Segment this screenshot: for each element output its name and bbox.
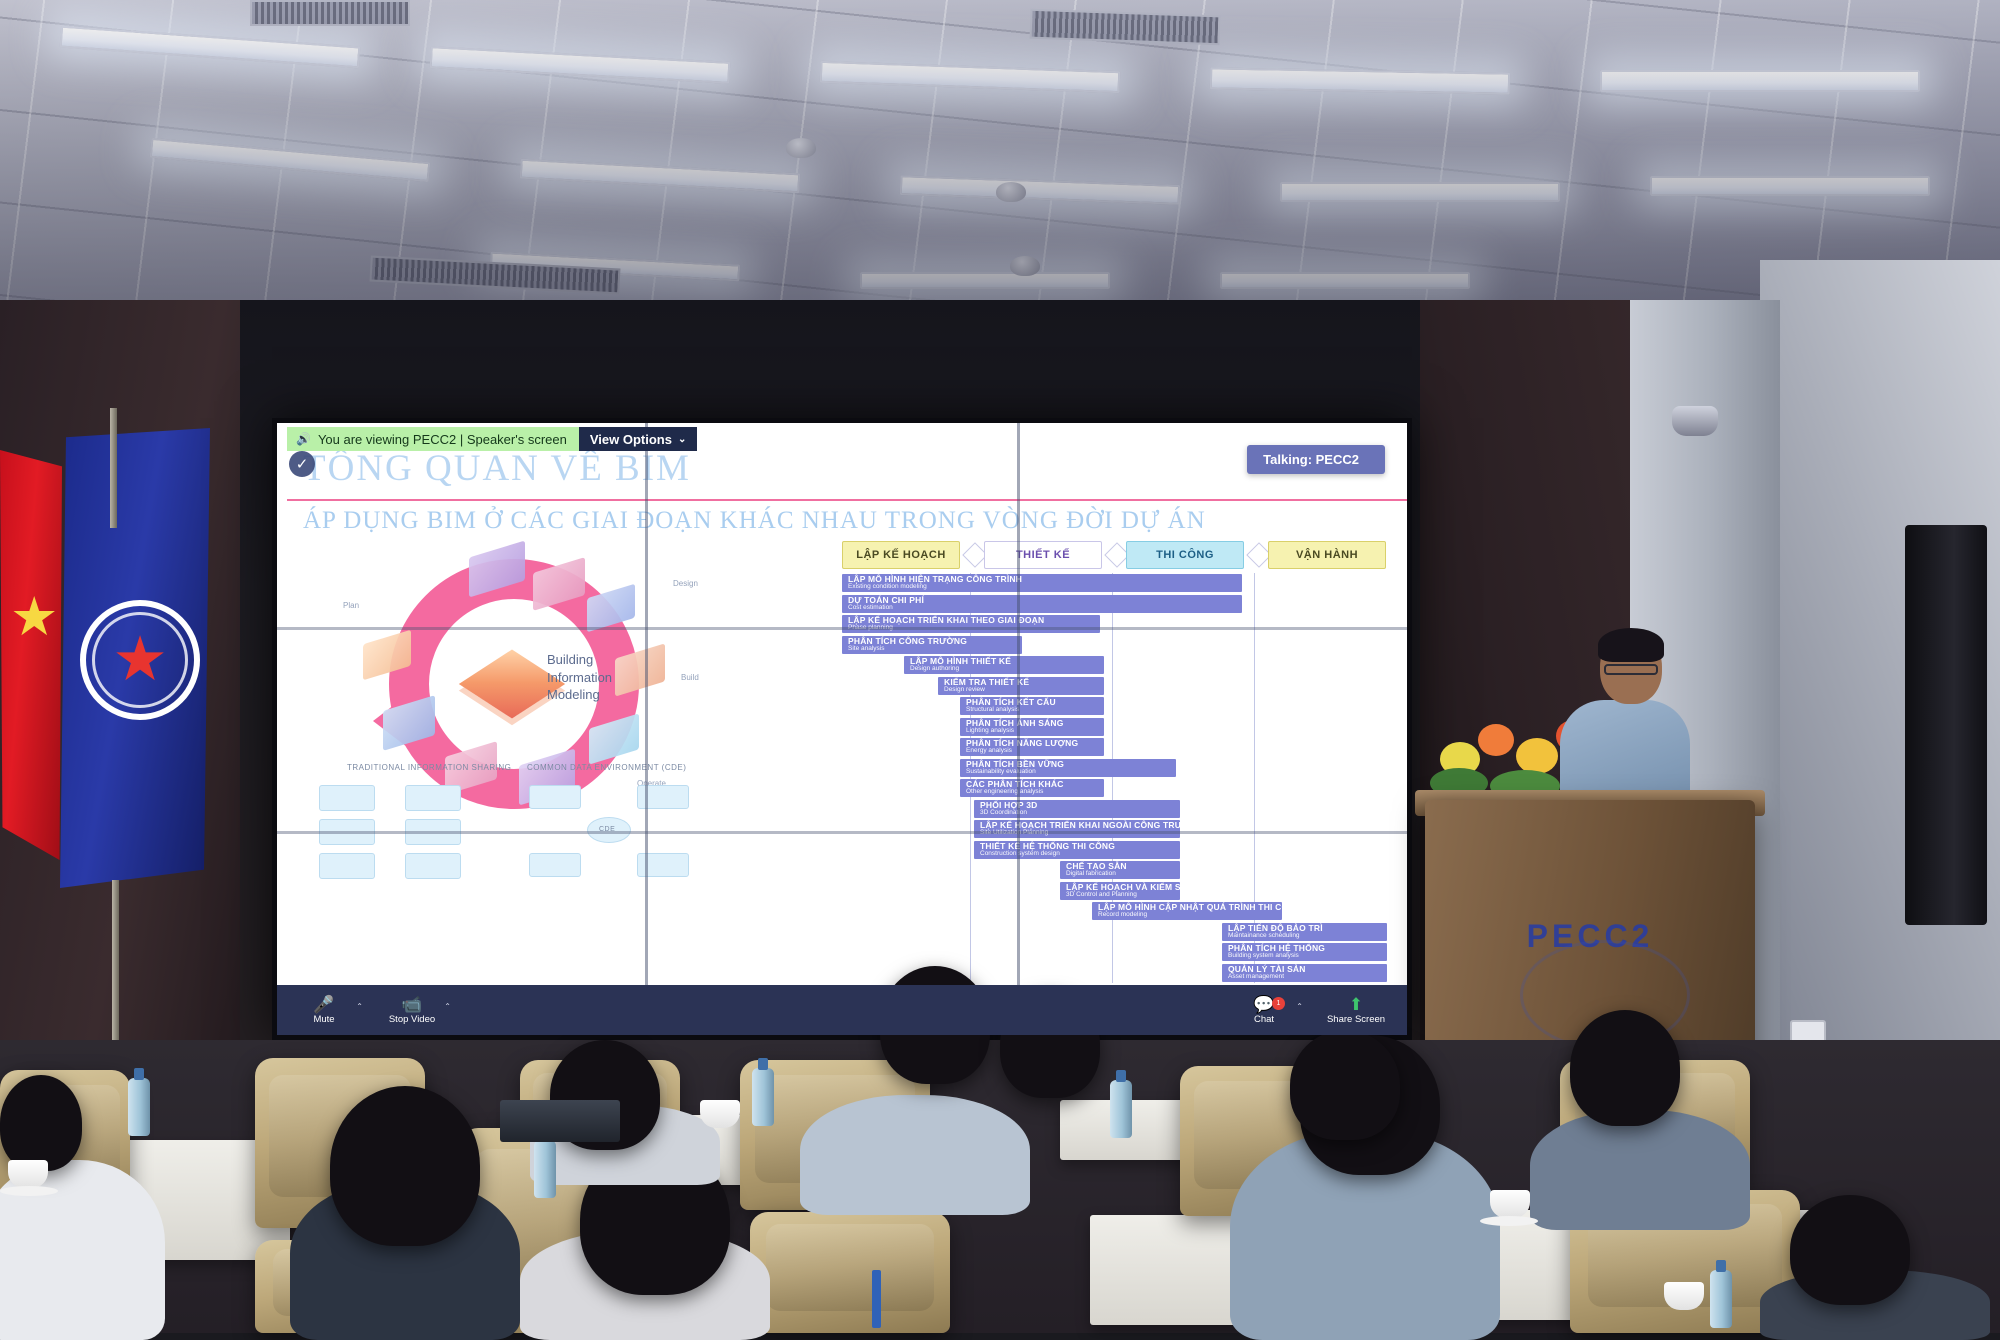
task-label-en: Energy analysis bbox=[966, 748, 1104, 755]
view-options-button[interactable]: View Options ⌄ bbox=[579, 427, 698, 451]
chat-unread-badge: 1 bbox=[1272, 997, 1285, 1010]
gantt-bar[interactable]: PHỐI HỢP 3D3D Coordination bbox=[974, 800, 1180, 818]
flag-pole bbox=[110, 408, 117, 528]
flow-node bbox=[405, 785, 461, 811]
toolbar-left-group: 🎤 Mute ⌃ 📹 Stop Video ⌃ bbox=[277, 996, 445, 1025]
attendee-shoulders bbox=[800, 1095, 1030, 1215]
task-label-en: Construction system design bbox=[980, 851, 1180, 858]
task-label-en: Existing condition modeling bbox=[848, 584, 1242, 591]
phase-label: THIẾT KẾ bbox=[1016, 549, 1070, 561]
gantt-row: THIẾT KẾ HỆ THỐNG THI CÔNGConstruction s… bbox=[842, 840, 1387, 861]
ring-label: Plan bbox=[343, 601, 359, 610]
viewing-status: 🔊 You are viewing PECC2 | Speaker's scre… bbox=[287, 427, 579, 451]
microphone-icon: 🎤 bbox=[313, 996, 334, 1013]
task-label-en: Maintainance scheduling bbox=[1228, 933, 1387, 940]
gantt-row: PHÂN TÍCH BỀN VỮNGSustainability evaluat… bbox=[842, 758, 1387, 779]
task-label-en: Site analysis bbox=[848, 646, 1022, 653]
toolbar-right-group: 💬 1 Chat ⌃ ⬆ Share Screen bbox=[1231, 996, 1407, 1025]
attendee-head bbox=[1290, 1030, 1400, 1140]
bim-logo-line-3: Modeling bbox=[547, 686, 612, 704]
task-label-en: Building system analysis bbox=[1228, 953, 1387, 960]
bim-logo-line-2: Information bbox=[547, 669, 612, 687]
phase-label: VẬN HÀNH bbox=[1296, 549, 1358, 561]
camera-icon: 📹 bbox=[401, 996, 422, 1013]
task-label-en: Asset management bbox=[1228, 974, 1387, 981]
title-divider bbox=[287, 499, 1407, 501]
task-label-en: Design review bbox=[944, 687, 1104, 694]
phase-label: THI CÔNG bbox=[1156, 549, 1214, 561]
gantt-bar[interactable]: LẬP MÔ HÌNH HIỆN TRẠNG CÔNG TRÌNHExistin… bbox=[842, 574, 1242, 592]
ceiling bbox=[0, 0, 2000, 340]
gantt-bar[interactable]: CÁC PHÂN TÍCH KHÁCOther engineering anal… bbox=[960, 779, 1104, 797]
zoom-avatar-icon[interactable]: ✓ bbox=[289, 451, 315, 477]
evn-emblem-ring bbox=[92, 612, 188, 708]
presenter-hair bbox=[1598, 628, 1664, 662]
gantt-bar[interactable]: LẬP KẾ HOẠCH TRIỂN KHAI NGOÀI CÔNG TRƯỜN… bbox=[974, 820, 1180, 838]
flower bbox=[1516, 738, 1558, 774]
flow-node bbox=[319, 853, 375, 879]
mute-label: Mute bbox=[313, 1014, 334, 1025]
zoom-viewing-banner: 🔊 You are viewing PECC2 | Speaker's scre… bbox=[287, 427, 697, 451]
gantt-bar[interactable]: PHÂN TÍCH ÁNH SÁNGLighting analysis bbox=[960, 718, 1104, 736]
gantt-row: DỰ TOÁN CHI PHÍCost estimation bbox=[842, 594, 1387, 615]
phase-button-design[interactable]: THIẾT KẾ bbox=[984, 541, 1102, 569]
laptop[interactable] bbox=[500, 1100, 620, 1142]
gantt-row: LẬP KẾ HOẠCH TRIỂN KHAI NGOÀI CÔNG TRƯỜN… bbox=[842, 819, 1387, 840]
video-wall-frame: TỔNG QUAN VỀ BIM ÁP DỤNG BIM Ở CÁC GIAI … bbox=[272, 418, 1412, 1040]
gantt-row: PHÂN TÍCH ÁNH SÁNGLighting analysis bbox=[842, 717, 1387, 738]
talking-indicator: Talking: PECC2 bbox=[1247, 445, 1385, 474]
gantt-bar[interactable]: LẬP KẾ HOẠCH TRIỂN KHAI THEO GIAI ĐOẠNPh… bbox=[842, 615, 1100, 633]
video-wall-seam bbox=[1017, 423, 1020, 1035]
gantt-bar[interactable]: LẬP MÔ HÌNH THIẾT KẾDesign authoring bbox=[904, 656, 1104, 674]
ceiling-shading bbox=[0, 0, 2000, 340]
phase-button-construct[interactable]: THI CÔNG bbox=[1126, 541, 1244, 569]
gantt-bar[interactable]: PHÂN TÍCH KẾT CẤUStructural analysis bbox=[960, 697, 1104, 715]
chat-label: Chat bbox=[1254, 1014, 1274, 1025]
water-bottle bbox=[128, 1078, 150, 1136]
phase-header-row: LẬP KẾ HOẠCH THIẾT KẾ THI CÔNG VẬN HÀNH bbox=[842, 541, 1382, 571]
gantt-row: PHỐI HỢP 3D3D Coordination bbox=[842, 799, 1387, 820]
bim-logo-text: Building Information Modeling bbox=[547, 651, 612, 704]
chat-button[interactable]: 💬 1 Chat ⌃ bbox=[1231, 996, 1297, 1025]
slide-subtitle: ÁP DỤNG BIM Ở CÁC GIAI ĐOẠN KHÁC NHAU TR… bbox=[303, 507, 1206, 535]
gantt-row: PHÂN TÍCH KẾT CẤUStructural analysis bbox=[842, 696, 1387, 717]
video-wall-seam bbox=[277, 831, 1407, 834]
gantt-bar[interactable]: LẬP MÔ HÌNH CẬP NHẬT QUÁ TRÌNH THI CÔNGR… bbox=[1092, 902, 1282, 920]
task-label-en: Lighting analysis bbox=[966, 728, 1104, 735]
water-bottle bbox=[1710, 1270, 1732, 1328]
gantt-row: PHÂN TÍCH NĂNG LƯỢNGEnergy analysis bbox=[842, 737, 1387, 758]
task-label-en: 3D Coordination bbox=[980, 810, 1180, 817]
phase-button-plan[interactable]: LẬP KẾ HOẠCH bbox=[842, 541, 960, 569]
water-bottle bbox=[534, 1140, 556, 1198]
lanyard bbox=[872, 1270, 881, 1328]
gantt-row: LẬP MÔ HÌNH CẬP NHẬT QUÁ TRÌNH THI CÔNGR… bbox=[842, 901, 1387, 922]
flow-node bbox=[319, 785, 375, 811]
task-label-en: Record modeling bbox=[1098, 912, 1282, 919]
task-label-en: Cost estimation bbox=[848, 605, 1242, 612]
chevron-up-icon[interactable]: ⌃ bbox=[444, 1002, 451, 1011]
attendee-head bbox=[1570, 1010, 1680, 1126]
security-camera-icon bbox=[1672, 406, 1718, 436]
bim-logo-line-1: Building bbox=[547, 651, 612, 669]
stop-video-label: Stop Video bbox=[389, 1014, 435, 1025]
coffee-cup bbox=[1664, 1282, 1704, 1310]
task-label-en: Design authoring bbox=[910, 666, 1104, 673]
gantt-bar[interactable]: CHẾ TẠO SẴNDigital fabrication bbox=[1060, 861, 1180, 879]
stop-video-button[interactable]: 📹 Stop Video ⌃ bbox=[379, 996, 445, 1025]
saucer bbox=[0, 1186, 58, 1196]
chevron-up-icon[interactable]: ⌃ bbox=[1296, 1002, 1303, 1011]
share-screen-button[interactable]: ⬆ Share Screen bbox=[1323, 996, 1389, 1025]
flag-star-icon: ★ bbox=[10, 590, 58, 644]
ring-label: Build bbox=[681, 673, 699, 682]
gantt-row: PHÂN TÍCH HỆ THỐNGBuilding system analys… bbox=[842, 942, 1387, 963]
water-bottle bbox=[1110, 1080, 1132, 1138]
gantt-bar[interactable]: KIỂM TRA THIẾT KẾDesign review bbox=[938, 677, 1104, 695]
gantt-bar[interactable]: DỰ TOÁN CHI PHÍCost estimation bbox=[842, 595, 1242, 613]
gantt-bar[interactable]: QUẢN LÝ TÀI SẢNAsset management bbox=[1222, 964, 1387, 982]
view-options-label: View Options bbox=[590, 432, 672, 447]
gantt-bar[interactable]: LẬP KẾ HOẠCH VÀ KIỂM SOÁT 3D3D Control a… bbox=[1060, 882, 1180, 900]
water-bottle bbox=[752, 1068, 774, 1126]
phase-button-operate[interactable]: VẬN HÀNH bbox=[1268, 541, 1386, 569]
attendee-head bbox=[330, 1086, 480, 1246]
phase-label: LẬP KẾ HOẠCH bbox=[856, 549, 946, 561]
share-screen-icon: ⬆ bbox=[1349, 996, 1363, 1013]
task-label-en: Digital fabrication bbox=[1066, 871, 1180, 878]
gantt-row: CÁC PHÂN TÍCH KHÁCOther engineering anal… bbox=[842, 778, 1387, 799]
chevron-up-icon[interactable]: ⌃ bbox=[356, 1002, 363, 1011]
share-screen-label: Share Screen bbox=[1327, 1014, 1385, 1025]
viewing-status-text: You are viewing PECC2 | Speaker's screen bbox=[318, 432, 567, 447]
saucer bbox=[1480, 1216, 1538, 1226]
zoom-toolbar: 🎤 Mute ⌃ 📹 Stop Video ⌃ 💬 1 Chat bbox=[277, 985, 1407, 1035]
av-speaker-tower bbox=[1905, 525, 1987, 925]
task-label-en: Structural analysis bbox=[966, 707, 1104, 714]
slide-title: TỔNG QUAN VỀ BIM bbox=[303, 447, 691, 490]
task-label-en: Sustainability evaluation bbox=[966, 769, 1176, 776]
video-wall-seam bbox=[645, 423, 648, 1035]
flow-node bbox=[405, 853, 461, 879]
gantt-row: LẬP MÔ HÌNH THIẾT KẾDesign authoring bbox=[842, 655, 1387, 676]
ring-label: Design bbox=[673, 579, 698, 588]
flow-node bbox=[529, 853, 581, 877]
flow-caption-right: COMMON DATA ENVIRONMENT (CDE) bbox=[527, 763, 686, 772]
task-label-vi: DỰ TOÁN CHI PHÍ bbox=[848, 596, 1242, 605]
speaker-icon: 🔊 bbox=[296, 432, 311, 446]
task-label-en: Other engineering analysis bbox=[966, 789, 1104, 796]
coffee-cup bbox=[8, 1160, 48, 1188]
gantt-row: PHÂN TÍCH CÔNG TRƯỜNGSite analysis bbox=[842, 635, 1387, 656]
presenter-glasses bbox=[1604, 664, 1658, 675]
chevron-down-icon: ⌄ bbox=[678, 434, 686, 445]
gantt-bar[interactable]: PHÂN TÍCH NĂNG LƯỢNGEnergy analysis bbox=[960, 738, 1104, 756]
attendee-shoulders bbox=[1530, 1110, 1750, 1230]
attendee-head bbox=[1790, 1195, 1910, 1305]
shared-screen[interactable]: TỔNG QUAN VỀ BIM ÁP DỤNG BIM Ở CÁC GIAI … bbox=[277, 423, 1407, 1035]
coffee-cup bbox=[1490, 1190, 1530, 1218]
chair bbox=[750, 1212, 950, 1333]
gantt-row: LẬP KẾ HOẠCH TRIỂN KHAI THEO GIAI ĐOẠNPh… bbox=[842, 614, 1387, 635]
flower bbox=[1478, 724, 1514, 756]
gantt-row: LẬP TIẾN ĐỘ BẢO TRÌMaintainance scheduli… bbox=[842, 922, 1387, 943]
vietnam-flag bbox=[0, 450, 62, 860]
gantt-row: CHẾ TẠO SẴNDigital fabrication bbox=[842, 860, 1387, 881]
gantt-bar[interactable]: THIẾT KẾ HỆ THỐNG THI CÔNGConstruction s… bbox=[974, 841, 1180, 859]
gantt-row: LẬP KẾ HOẠCH VÀ KIỂM SOÁT 3D3D Control a… bbox=[842, 881, 1387, 902]
task-label-en: 3D Control and Planning bbox=[1066, 892, 1180, 899]
mute-button[interactable]: 🎤 Mute ⌃ bbox=[291, 996, 357, 1025]
gantt-row: LẬP MÔ HÌNH HIỆN TRẠNG CÔNG TRÌNHExistin… bbox=[842, 573, 1387, 594]
gantt-row: KIỂM TRA THIẾT KẾDesign review bbox=[842, 676, 1387, 697]
flow-node bbox=[529, 785, 581, 809]
flow-caption-left: TRADITIONAL INFORMATION SHARING bbox=[347, 763, 511, 772]
video-wall-seam bbox=[277, 627, 1407, 630]
gantt-bar[interactable]: LẬP TIẾN ĐỘ BẢO TRÌMaintainance scheduli… bbox=[1222, 923, 1387, 941]
coffee-cup bbox=[700, 1100, 740, 1128]
gantt-bar[interactable]: PHÂN TÍCH CÔNG TRƯỜNGSite analysis bbox=[842, 636, 1022, 654]
gantt-bar[interactable]: PHÂN TÍCH BỀN VỮNGSustainability evaluat… bbox=[960, 759, 1176, 777]
bim-uses-gantt: LẬP MÔ HÌNH HIỆN TRẠNG CÔNG TRÌNHExistin… bbox=[842, 573, 1387, 983]
attendee-head bbox=[0, 1075, 82, 1171]
presentation-slide: TỔNG QUAN VỀ BIM ÁP DỤNG BIM Ở CÁC GIAI … bbox=[277, 423, 1407, 1035]
conference-room-scene: ★ ★ TỔNG QUAN VỀ BIM ÁP DỤNG BIM Ở CÁC G… bbox=[0, 0, 2000, 1333]
gantt-bar[interactable]: PHÂN TÍCH HỆ THỐNGBuilding system analys… bbox=[1222, 943, 1387, 961]
